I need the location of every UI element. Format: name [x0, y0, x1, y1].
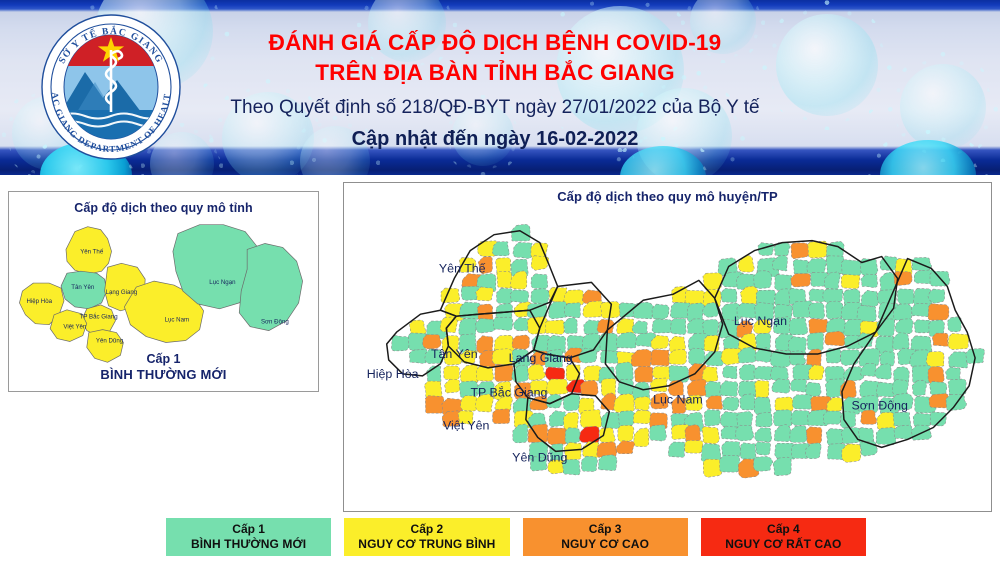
commune-region [493, 409, 510, 424]
district-label-sơn-động: Sơn Động [851, 399, 908, 413]
commune-region [531, 274, 548, 289]
commune-region [753, 457, 772, 472]
commune-region [409, 349, 427, 363]
legend-level-desc: NGUY CƠ TRUNG BÌNH [358, 537, 495, 552]
commune-region [773, 457, 791, 476]
commune-region [930, 412, 946, 426]
legend-item-level-4[interactable]: Cấp 4 NGUY CƠ RẤT CAO [701, 518, 866, 556]
commune-region [632, 321, 647, 334]
commune-region [926, 352, 944, 367]
commune-region [633, 428, 648, 447]
province-label-lục-nam: Lục Nam [165, 317, 190, 324]
page-header-banner: SỞ Y TẾ BẮC GIANG BAC GIANG DEPARTMENT O… [0, 0, 1000, 175]
commune-region [634, 397, 651, 411]
legend-level-label: Cấp 3 [589, 522, 622, 537]
province-label-hiệp-hòa: Hiệp Hòa [26, 298, 52, 305]
commune-region [945, 367, 960, 380]
province-label-lạng-giang: Lạng Giang [106, 289, 138, 296]
commune-region [929, 394, 949, 408]
commune-region [841, 274, 860, 288]
legend-level-label: Cấp 2 [411, 522, 444, 537]
commune-region [932, 333, 948, 346]
commune-region [806, 427, 822, 444]
header-subtitle: Theo Quyết định số 218/QĐ-BYT ngày 27/01… [215, 93, 775, 123]
commune-region [564, 303, 580, 318]
commune-region [706, 396, 723, 410]
district-label-tp-bắc-giang: TP Bắc Giang [470, 385, 547, 400]
commune-region [616, 441, 635, 454]
province-label-lục-ngạn: Lục Ngạn [209, 279, 236, 286]
commune-region [531, 289, 550, 305]
commune-region [652, 319, 673, 333]
commune-region [565, 428, 581, 444]
commune-region [823, 289, 843, 303]
commune-region [928, 304, 949, 320]
commune-region [736, 425, 754, 441]
commune-region [755, 333, 770, 349]
commune-region [929, 381, 947, 394]
commune-region [806, 382, 821, 396]
commune-region [772, 379, 790, 393]
commune-region [720, 381, 738, 397]
commune-region [754, 271, 772, 289]
commune-region [720, 455, 740, 472]
commune-region [775, 397, 793, 412]
commune-region [600, 333, 618, 351]
commune-region [633, 410, 652, 424]
province-level-caption: Cấp 1 BÌNH THƯỜNG MỚI [9, 352, 318, 382]
commune-region [894, 425, 913, 439]
header-update-date: Cập nhật đến ngày 16-02-2022 [215, 125, 775, 153]
commune-region [840, 350, 859, 366]
commune-region [826, 301, 844, 319]
commune-region [477, 304, 493, 320]
commune-region [755, 428, 772, 442]
legend-level-label: Cấp 1 [232, 522, 265, 537]
province-region-son-dong [239, 243, 302, 330]
commune-region [528, 364, 546, 380]
province-label-yên-thế: Yên Thế [80, 248, 104, 255]
commune-region [580, 380, 598, 396]
commune-region [826, 428, 844, 445]
commune-region [633, 302, 654, 319]
virus-decoration-icon [880, 140, 976, 175]
commune-region [876, 428, 896, 445]
commune-region [685, 425, 701, 442]
commune-region [723, 397, 739, 411]
commune-region [948, 333, 969, 349]
commune-region [791, 243, 809, 259]
district-label-lục-ngạn: Lục Ngạn [734, 314, 787, 328]
commune-region [789, 318, 808, 335]
commune-region [861, 274, 878, 288]
commune-region [721, 288, 737, 302]
commune-region [897, 289, 915, 304]
commune-region [618, 425, 634, 442]
commune-region [651, 350, 669, 366]
commune-region [669, 349, 687, 364]
commune-region [635, 366, 653, 382]
bac-giang-health-department-logo: SỞ Y TẾ BẮC GIANG BAC GIANG DEPARTMENT O… [37, 12, 185, 162]
commune-region [756, 412, 772, 427]
commune-region [790, 426, 807, 443]
commune-region [877, 412, 895, 430]
commune-region [739, 364, 756, 380]
commune-region [652, 366, 672, 379]
commune-region [809, 289, 825, 302]
district-label-tân-yên: Tân Yên [431, 347, 478, 361]
legend-item-level-3[interactable]: Cấp 3 NGUY CƠ CAO [523, 518, 688, 556]
commune-region [670, 319, 686, 335]
page-title-line-2: TRÊN ĐỊA BÀN TỈNH BẮC GIANG [215, 58, 775, 88]
commune-region [754, 366, 773, 380]
commune-region [460, 365, 478, 384]
commune-region [669, 365, 689, 382]
district-map: Yên ThếTân YênHiệp HòaLạng GiangTP Bắc G… [344, 183, 991, 511]
commune-region [791, 274, 811, 287]
page-title-line-1: ĐÁNH GIÁ CẤP ĐỘ DỊCH BỆNH COVID-19 [215, 28, 775, 58]
commune-region [875, 364, 892, 380]
province-label-tân-yên: Tân Yên [71, 284, 95, 291]
commune-region [791, 410, 811, 425]
commune-region [599, 428, 615, 443]
province-label-sơn-động: Sơn Động [261, 319, 289, 326]
legend-item-level-1[interactable]: Cấp 1 BÌNH THƯỜNG MỚI [166, 518, 331, 556]
header-title-block: ĐÁNH GIÁ CẤP ĐỘ DỊCH BỆNH COVID-19 TRÊN … [215, 28, 775, 153]
commune-region [512, 335, 530, 349]
commune-region [618, 411, 635, 427]
province-label-việt-yên: Việt Yên [63, 324, 87, 331]
commune-region [772, 255, 787, 271]
commune-region [774, 425, 791, 442]
commune-region [617, 332, 638, 348]
commune-region [614, 394, 635, 413]
commune-region [685, 440, 703, 453]
district-label-lạng-giang: Lạng Giang [509, 351, 573, 365]
severity-legend: Cấp 1 BÌNH THƯỜNG MỚI Cấp 2 NGUY CƠ TRUN… [166, 518, 866, 556]
commune-region [425, 396, 443, 414]
commune-region [511, 224, 530, 241]
commune-region [740, 443, 756, 459]
commune-region [705, 381, 722, 398]
district-label-hiệp-hòa: Hiệp Hòa [367, 367, 419, 381]
legend-level-desc: BÌNH THƯỜNG MỚI [191, 537, 306, 552]
district-label-yên-thế: Yên Thế [439, 261, 486, 275]
commune-region [391, 335, 409, 351]
commune-region [631, 349, 653, 366]
commune-region [824, 411, 842, 424]
commune-region [616, 362, 634, 381]
commune-region [807, 258, 827, 273]
commune-region [722, 366, 737, 379]
province-label-yên-dũng: Yên Dũng [96, 337, 124, 344]
province-label-tp-bắc-giang: TP Bắc Giang [80, 314, 119, 321]
commune-region [913, 413, 932, 427]
virus-decoration-icon [776, 14, 878, 116]
commune-region [893, 412, 911, 426]
commune-region [668, 442, 685, 457]
legend-level-desc: NGUY CƠ RẤT CAO [725, 537, 841, 552]
commune-region [476, 366, 493, 381]
commune-region [844, 319, 863, 337]
commune-region [861, 290, 878, 306]
commune-region [880, 272, 896, 292]
commune-region [807, 332, 823, 350]
commune-region [510, 290, 529, 303]
commune-region [790, 379, 806, 392]
commune-region [705, 352, 724, 366]
commune-region [825, 331, 845, 346]
commune-region [513, 242, 532, 258]
commune-region [702, 427, 720, 444]
legend-level-label: Cấp 4 [767, 522, 800, 537]
commune-region [563, 317, 577, 333]
commune-region [564, 290, 584, 305]
commune-region [774, 410, 793, 427]
legend-level-desc: NGUY CƠ CAO [561, 537, 649, 552]
commune-region [738, 255, 754, 272]
district-scale-panel: Cấp độ dịch theo quy mô huyện/TP Yên Thế… [343, 182, 992, 512]
commune-region [842, 444, 861, 462]
commune-region [808, 302, 825, 318]
commune-region [581, 456, 597, 471]
commune-region [545, 320, 564, 334]
commune-region [893, 333, 910, 350]
province-scale-panel: Cấp độ dịch theo quy mô tỉnh [8, 191, 319, 392]
commune-region [547, 379, 569, 395]
commune-region [703, 459, 722, 477]
commune-region [580, 410, 602, 429]
commune-region [444, 379, 461, 393]
commune-region [688, 348, 704, 365]
commune-region [514, 318, 530, 331]
district-label-lục-nam: Lục Nam [653, 393, 703, 407]
commune-region [755, 380, 769, 398]
commune-region [475, 318, 495, 333]
commune-region [756, 442, 771, 455]
district-label-việt-yên: Việt Yên [443, 418, 490, 432]
commune-region [895, 319, 913, 334]
commune-region [704, 410, 720, 427]
commune-region [949, 352, 968, 368]
commune-region [809, 319, 829, 334]
commune-region [493, 317, 512, 330]
legend-item-level-2[interactable]: Cấp 2 NGUY CƠ TRUNG BÌNH [344, 518, 509, 556]
province-level-desc: BÌNH THƯỜNG MỚI [9, 367, 318, 382]
province-level-value: Cấp 1 [9, 352, 318, 367]
district-label-yên-dũng: Yên Dũng [512, 450, 567, 464]
commune-region [842, 260, 863, 277]
commune-region [775, 274, 792, 290]
commune-region [650, 425, 667, 441]
commune-region [652, 304, 669, 319]
commune-region [444, 366, 460, 380]
commune-region [497, 271, 513, 288]
